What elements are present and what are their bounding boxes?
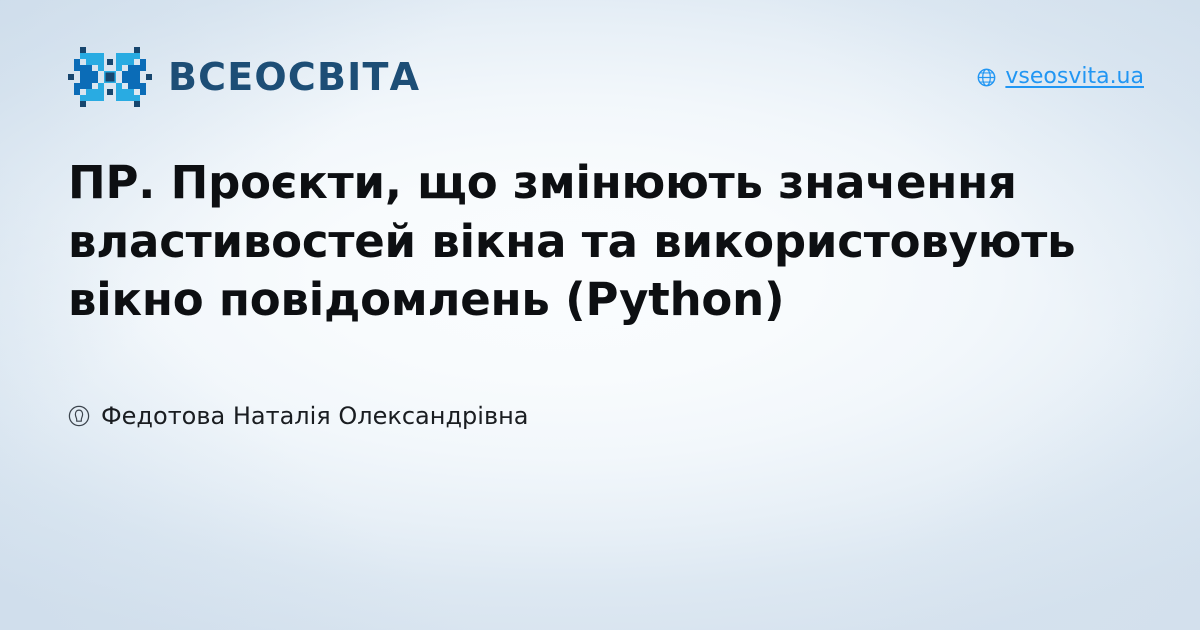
globe-icon [977, 68, 996, 87]
site-url-link[interactable]: vseosvita.ua [977, 66, 1144, 88]
site-url-text: vseosvita.ua [1005, 66, 1144, 88]
user-circle-icon [68, 405, 90, 427]
preview-card: ВСЕОСВІТА vseosvita.ua ПР. Проєкти, що з… [0, 0, 1200, 630]
author-block: Федотова Наталія Олександрівна [68, 404, 1144, 428]
page-title: ПР. Проєкти, що змінюють значення власти… [68, 154, 1144, 330]
card-header: ВСЕОСВІТА vseosvita.ua [68, 44, 1144, 110]
card-content: ВСЕОСВІТА vseosvita.ua ПР. Проєкти, що з… [0, 0, 1200, 630]
brand-block: ВСЕОСВІТА [68, 47, 420, 107]
vseosvita-pixel-star-logo-icon [68, 47, 152, 107]
brand-name: ВСЕОСВІТА [168, 58, 420, 96]
author-name: Федотова Наталія Олександрівна [101, 404, 529, 428]
